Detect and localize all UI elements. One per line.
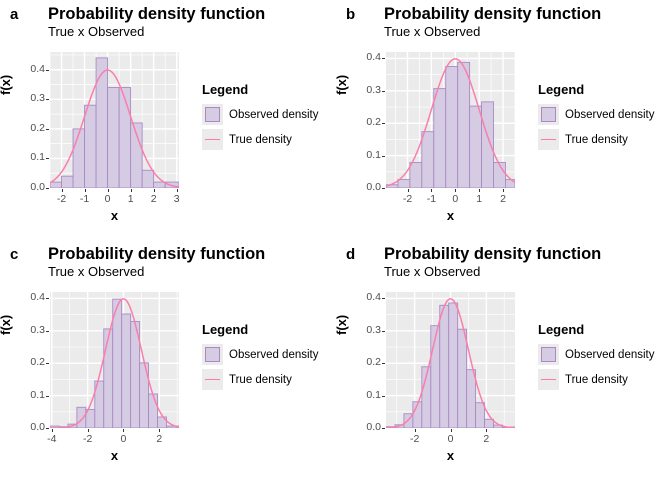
y-tick: 0.1 [350,390,381,400]
y-tick-mark [46,396,49,397]
y-tick-mark [46,331,49,332]
y-tick: 0.1 [14,152,45,162]
observed-density-key-icon [538,344,559,365]
y-tick: 0.3 [14,93,45,103]
y-axis-label-c: f(x) [0,315,13,335]
legend-label-true: True density [565,134,628,146]
y-tick-mark [46,70,49,71]
plot-area-b [386,52,515,188]
y-tick: 0.1 [350,150,381,160]
y-tick-label: 0.2 [14,357,45,367]
x-tick-label: 2 [500,193,506,205]
legend-item-observed-density[interactable]: Observed density [202,104,328,125]
x-tick-mark [451,429,452,432]
observed-density-key-icon [538,104,559,125]
x-axis-label-c: x [50,448,179,463]
y-axis-label-d: f(x) [334,315,349,335]
y-tick-mark [382,188,385,189]
x-tick-mark [503,189,504,192]
x-tick-label: -2 [410,433,419,445]
y-tick-mark [382,58,385,59]
y-tick-label: 0.0 [350,422,381,432]
y-tick-mark [46,363,49,364]
legend-b: Legend Observed density True density [538,82,664,154]
legend-c: Legend Observed density True density [202,322,328,394]
y-axis-label-b: f(x) [334,75,349,95]
figure-grid: a Probability density function True x Ob… [0,0,672,480]
y-tick-mark [382,298,385,299]
y-tick: 0.2 [14,357,45,367]
y-tick: 0.0 [350,182,381,192]
y-tick-label: 0.3 [350,85,381,95]
x-tick-mark [431,189,432,192]
y-tick: 0.4 [14,64,45,74]
y-axis-label-a: f(x) [0,75,13,95]
y-tick-mark [46,158,49,159]
x-axis-label-a: x [50,208,179,223]
x-tick-mark [131,189,132,192]
x-tick-mark [52,429,53,432]
panel-tag-b: b [346,6,355,23]
legend-title: Legend [202,322,328,337]
x-tick-label: -1 [427,193,436,205]
x-tick-label: 0 [448,433,454,445]
panel-subtitle-c: True x Observed [48,264,144,280]
x-tick-mark [62,189,63,192]
legend-label-observed: Observed density [229,349,319,361]
x-tick-label: 2 [151,193,157,205]
observed-density-key-icon [202,344,223,365]
panel-title-d: Probability density function [384,244,601,264]
legend-item-true-density[interactable]: True density [538,369,664,390]
panel-title-b: Probability density function [384,4,601,24]
x-tick-mark [486,429,487,432]
y-tick: 0.0 [350,422,381,432]
y-tick: 0.0 [14,182,45,192]
y-tick: 0.1 [14,390,45,400]
panel-title-a: Probability density function [48,4,265,24]
legend-item-true-density[interactable]: True density [538,129,664,150]
legend-label-observed: Observed density [565,109,655,121]
legend-d: Legend Observed density True density [538,322,664,394]
legend-title: Legend [538,322,664,337]
y-tick: 0.2 [350,357,381,367]
legend-label-observed: Observed density [565,349,655,361]
panel-b: b Probability density function True x Ob… [336,0,672,240]
y-tick-label: 0.4 [350,292,381,302]
y-tick-mark [46,129,49,130]
legend-label-true: True density [229,134,292,146]
y-tick: 0.4 [350,52,381,62]
true-density-key-icon [202,129,223,150]
x-tick-mark [177,189,178,192]
y-tick-label: 0.4 [350,52,381,62]
panel-subtitle-b: True x Observed [384,24,480,40]
x-tick-label: -4 [47,433,56,445]
y-tick-mark [382,123,385,124]
x-tick-label: -2 [57,193,66,205]
y-tick-label: 0.2 [14,123,45,133]
y-tick-label: 0.0 [14,182,45,192]
panel-subtitle-d: True x Observed [384,264,480,280]
true-density-key-icon [538,369,559,390]
y-tick-label: 0.2 [350,117,381,127]
x-tick-mark [455,189,456,192]
y-tick: 0.0 [14,422,45,432]
legend-title: Legend [202,82,328,97]
y-tick-label: 0.0 [350,182,381,192]
x-tick-label: -2 [83,433,92,445]
x-tick-mark [408,189,409,192]
y-tick: 0.2 [350,117,381,127]
legend-title: Legend [538,82,664,97]
panel-tag-a: a [10,6,18,23]
panel-subtitle-a: True x Observed [48,24,144,40]
plot-area-d [386,292,515,428]
x-tick-mark [88,429,89,432]
true-density-key-icon [202,369,223,390]
x-tick-label: -2 [403,193,412,205]
x-axis-label-b: x [386,208,515,223]
panel-c: c Probability density function True x Ob… [0,240,336,480]
x-tick-label: 2 [156,433,162,445]
y-tick-label: 0.3 [14,93,45,103]
legend-a: Legend Observed density True density [202,82,328,154]
y-tick: 0.3 [14,325,45,335]
plot-area-a [50,52,179,188]
y-tick-label: 0.0 [14,422,45,432]
y-tick-label: 0.1 [350,390,381,400]
x-tick-mark [415,429,416,432]
x-tick-mark [154,189,155,192]
y-tick-mark [382,363,385,364]
y-tick-mark [382,396,385,397]
y-tick-mark [46,99,49,100]
panel-tag-c: c [10,246,18,263]
legend-label-true: True density [565,374,628,386]
observed-density-key-icon [202,104,223,125]
x-tick-label: -1 [80,193,89,205]
legend-label-true: True density [229,374,292,386]
x-tick-mark [108,189,109,192]
y-tick-label: 0.3 [14,325,45,335]
y-tick: 0.4 [350,292,381,302]
x-tick-mark [159,429,160,432]
y-tick-mark [382,91,385,92]
y-tick-label: 0.2 [350,357,381,367]
y-tick: 0.2 [14,123,45,133]
y-tick-mark [382,156,385,157]
x-tick-label: 0 [105,193,111,205]
legend-item-true-density[interactable]: True density [202,129,328,150]
y-tick-label: 0.1 [350,150,381,160]
x-tick-mark [479,189,480,192]
legend-item-observed-density[interactable]: Observed density [538,104,664,125]
x-axis-label-d: x [386,448,515,463]
y-tick-label: 0.1 [14,152,45,162]
plot-area-c [50,292,179,428]
y-tick: 0.3 [350,85,381,95]
legend-item-observed-density[interactable]: Observed density [538,344,664,365]
y-tick-label: 0.4 [14,292,45,302]
panel-d: d Probability density function True x Ob… [336,240,672,480]
x-tick-label: 0 [452,193,458,205]
x-tick-label: 2 [483,433,489,445]
x-tick-mark [85,189,86,192]
y-tick-mark [46,188,49,189]
y-tick-label: 0.1 [14,390,45,400]
panel-title-c: Probability density function [48,244,265,264]
panel-tag-d: d [346,246,355,263]
y-tick-mark [382,331,385,332]
y-tick-mark [46,428,49,429]
true-density-key-icon [538,129,559,150]
y-tick-label: 0.3 [350,325,381,335]
x-tick-label: 0 [121,433,127,445]
x-tick-label: 1 [128,193,134,205]
legend-label-observed: Observed density [229,109,319,121]
y-tick: 0.3 [350,325,381,335]
y-tick-mark [382,428,385,429]
x-tick-label: 1 [476,193,482,205]
y-tick-label: 0.4 [14,64,45,74]
panel-a: a Probability density function True x Ob… [0,0,336,240]
x-tick-label: 3 [174,193,180,205]
legend-item-observed-density[interactable]: Observed density [202,344,328,365]
y-tick-mark [46,298,49,299]
legend-item-true-density[interactable]: True density [202,369,328,390]
x-tick-mark [123,429,124,432]
y-tick: 0.4 [14,292,45,302]
